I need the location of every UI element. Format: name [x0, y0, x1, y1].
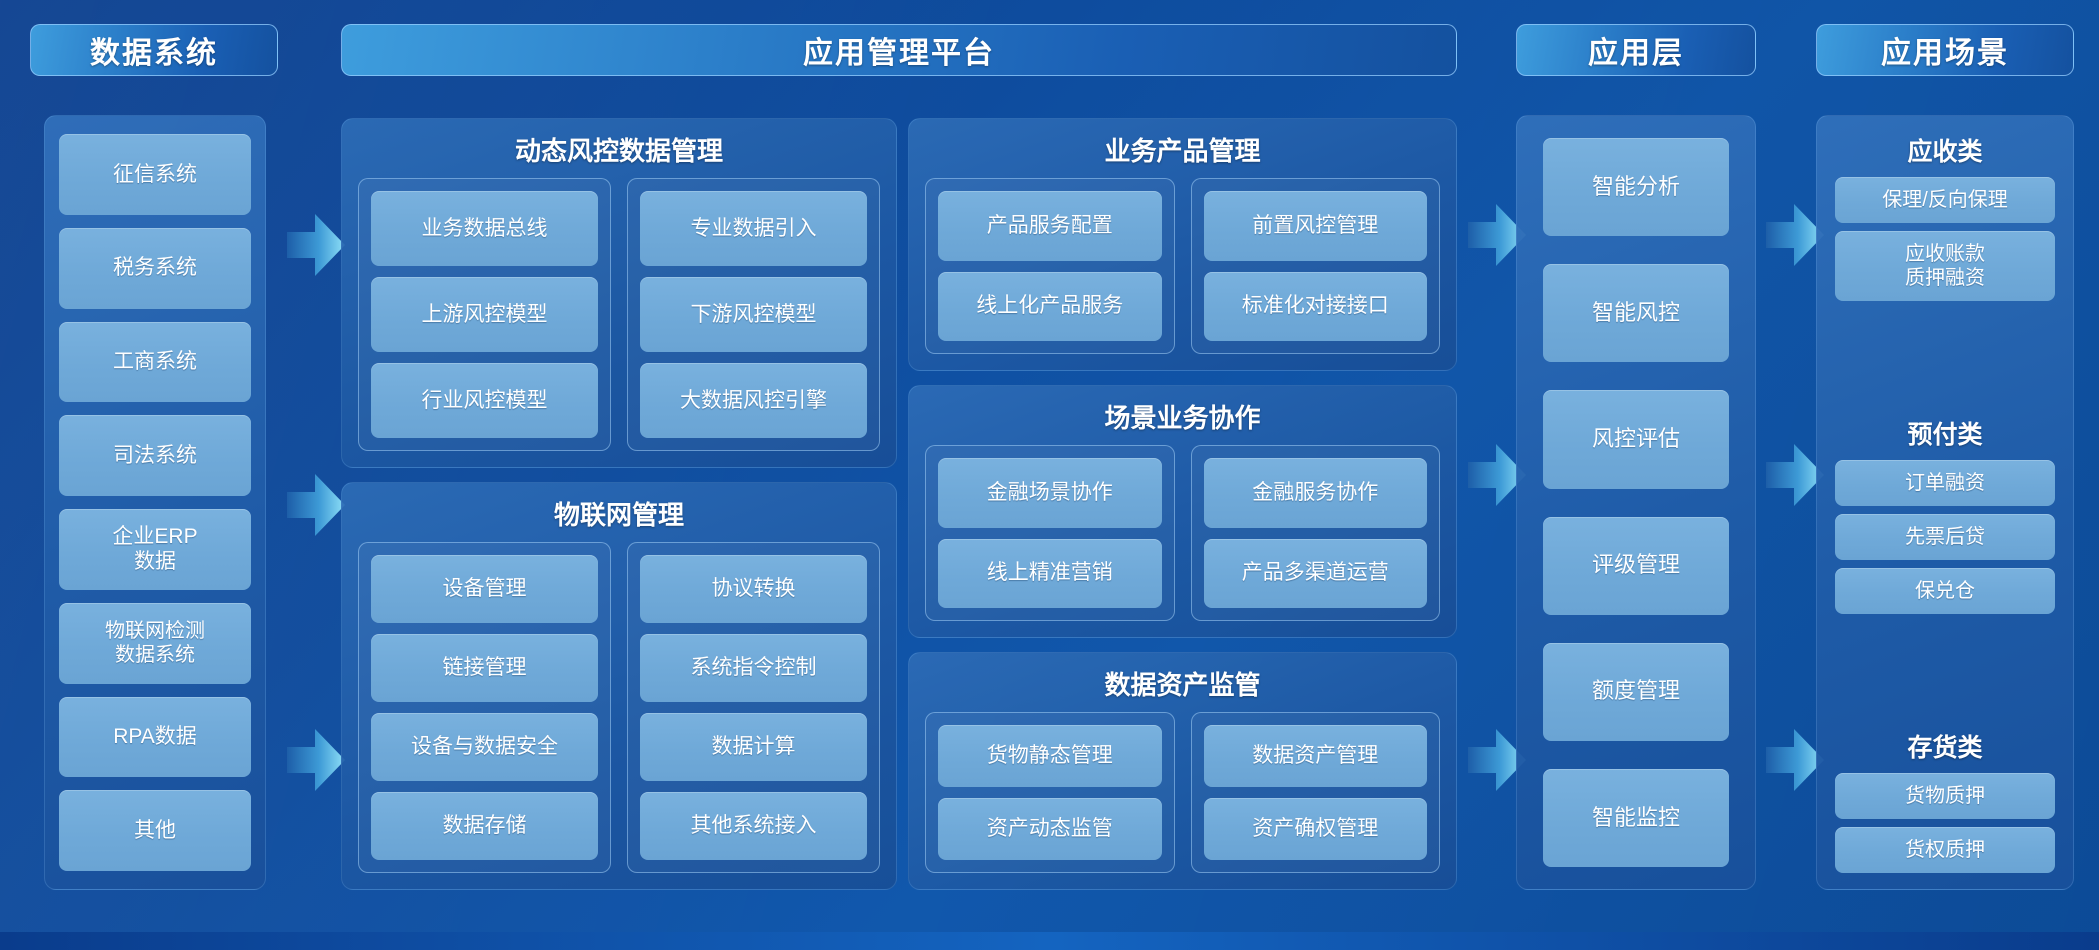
- group-title: 应收类: [1835, 132, 2055, 168]
- list-item[interactable]: 产品多渠道运营: [1204, 539, 1428, 609]
- list-item[interactable]: 订单融资: [1835, 460, 2055, 506]
- list-item[interactable]: 企业ERP 数据: [59, 509, 251, 590]
- list-item[interactable]: 前置风控管理: [1204, 191, 1428, 261]
- list-item[interactable]: 设备管理: [371, 555, 598, 623]
- group-right: 金融服务协作 产品多渠道运营: [1191, 445, 1441, 621]
- group-title: 存货类: [1835, 728, 2055, 764]
- list-item[interactable]: 数据存储: [371, 792, 598, 860]
- list-item[interactable]: 资产确权管理: [1204, 798, 1428, 860]
- section-title: 场景业务协作: [925, 398, 1440, 435]
- flow-arrow-icon: [287, 210, 347, 280]
- list-item[interactable]: 行业风控模型: [371, 363, 598, 438]
- section-title: 业务产品管理: [925, 131, 1440, 168]
- panel-application-scenarios: 应收类 保理/反向保理 应收账款 质押融资 预付类 订单融资 先票后贷 保兑仓 …: [1816, 115, 2074, 890]
- list-item[interactable]: 产品服务配置: [938, 191, 1162, 261]
- list-item[interactable]: 数据计算: [640, 713, 867, 781]
- list-item[interactable]: 先票后贷: [1835, 514, 2055, 560]
- list-item[interactable]: 资产动态监管: [938, 798, 1162, 860]
- scenario-group-prepayment: 预付类 订单融资 先票后贷 保兑仓: [1835, 413, 2055, 614]
- list-item[interactable]: 线上精准营销: [938, 539, 1162, 609]
- column-header-application-layer: 应用层: [1516, 24, 1756, 76]
- list-item[interactable]: 协议转换: [640, 555, 867, 623]
- list-item[interactable]: 风控评估: [1543, 390, 1729, 488]
- column-header-platform: 应用管理平台: [341, 24, 1457, 76]
- group-left: 产品服务配置 线上化产品服务: [925, 178, 1175, 354]
- list-item[interactable]: 应收账款 质押融资: [1835, 231, 2055, 301]
- section-dynamic-risk-data-management: 动态风控数据管理 业务数据总线 上游风控模型 行业风控模型 专业数据引入 下游风…: [341, 118, 897, 468]
- section-title: 动态风控数据管理: [358, 131, 880, 168]
- list-item[interactable]: 设备与数据安全: [371, 713, 598, 781]
- column-header-application-scenarios: 应用场景: [1816, 24, 2074, 76]
- bottom-accent-strip: [0, 932, 2099, 950]
- section-scenario-business-collaboration: 场景业务协作 金融场景协作 线上精准营销 金融服务协作 产品多渠道运营: [908, 385, 1457, 638]
- list-item[interactable]: 智能风控: [1543, 264, 1729, 362]
- panel-data-systems: 征信系统 税务系统 工商系统 司法系统 企业ERP 数据 物联网检测 数据系统 …: [44, 115, 266, 890]
- section-data-asset-supervision: 数据资产监管 货物静态管理 资产动态监管 数据资产管理 资产确权管理: [908, 652, 1457, 890]
- list-item[interactable]: 评级管理: [1543, 517, 1729, 615]
- section-business-product-management: 业务产品管理 产品服务配置 线上化产品服务 前置风控管理 标准化对接接口: [908, 118, 1457, 371]
- section-title: 数据资产监管: [925, 665, 1440, 702]
- group-right: 协议转换 系统指令控制 数据计算 其他系统接入: [627, 542, 880, 873]
- list-item[interactable]: 标准化对接接口: [1204, 272, 1428, 342]
- group-right: 专业数据引入 下游风控模型 大数据风控引擎: [627, 178, 880, 451]
- section-title: 物联网管理: [358, 495, 880, 532]
- panel-application-layer: 智能分析 智能风控 风控评估 评级管理 额度管理 智能监控: [1516, 115, 1756, 890]
- list-item[interactable]: 智能监控: [1543, 769, 1729, 867]
- list-item[interactable]: 货权质押: [1835, 827, 2055, 873]
- list-item[interactable]: 金融服务协作: [1204, 458, 1428, 528]
- list-item[interactable]: 工商系统: [59, 322, 251, 403]
- list-item[interactable]: 保兑仓: [1835, 568, 2055, 614]
- list-item[interactable]: RPA数据: [59, 697, 251, 778]
- scenario-group-inventory: 存货类 货物质押 货权质押: [1835, 726, 2055, 873]
- list-item[interactable]: 货物静态管理: [938, 725, 1162, 787]
- list-item[interactable]: 下游风控模型: [640, 277, 867, 352]
- list-item[interactable]: 智能分析: [1543, 138, 1729, 236]
- list-item[interactable]: 货物质押: [1835, 773, 2055, 819]
- list-item[interactable]: 金融场景协作: [938, 458, 1162, 528]
- group-right: 前置风控管理 标准化对接接口: [1191, 178, 1441, 354]
- list-item[interactable]: 其他系统接入: [640, 792, 867, 860]
- group-left: 设备管理 链接管理 设备与数据安全 数据存储: [358, 542, 611, 873]
- list-item[interactable]: 额度管理: [1543, 643, 1729, 741]
- list-item[interactable]: 线上化产品服务: [938, 272, 1162, 342]
- list-item[interactable]: 大数据风控引擎: [640, 363, 867, 438]
- group-left: 货物静态管理 资产动态监管: [925, 712, 1175, 873]
- list-item[interactable]: 征信系统: [59, 134, 251, 215]
- group-left: 金融场景协作 线上精准营销: [925, 445, 1175, 621]
- column-header-data-systems: 数据系统: [30, 24, 278, 76]
- list-item[interactable]: 物联网检测 数据系统: [59, 603, 251, 684]
- scenario-group-receivables: 应收类 保理/反向保理 应收账款 质押融资: [1835, 130, 2055, 301]
- flow-arrow-icon: [287, 470, 347, 540]
- list-item[interactable]: 专业数据引入: [640, 191, 867, 266]
- list-item[interactable]: 数据资产管理: [1204, 725, 1428, 787]
- architecture-diagram: 数据系统 征信系统 税务系统 工商系统 司法系统 企业ERP 数据 物联网检测 …: [0, 0, 2099, 950]
- list-item[interactable]: 上游风控模型: [371, 277, 598, 352]
- list-item[interactable]: 业务数据总线: [371, 191, 598, 266]
- section-iot-management: 物联网管理 设备管理 链接管理 设备与数据安全 数据存储 协议转换 系统指令控制…: [341, 482, 897, 890]
- list-item[interactable]: 链接管理: [371, 634, 598, 702]
- group-right: 数据资产管理 资产确权管理: [1191, 712, 1441, 873]
- list-item[interactable]: 其他: [59, 790, 251, 871]
- list-item[interactable]: 保理/反向保理: [1835, 177, 2055, 223]
- list-item[interactable]: 司法系统: [59, 415, 251, 496]
- group-title: 预付类: [1835, 415, 2055, 451]
- list-item[interactable]: 系统指令控制: [640, 634, 867, 702]
- list-item[interactable]: 税务系统: [59, 228, 251, 309]
- group-left: 业务数据总线 上游风控模型 行业风控模型: [358, 178, 611, 451]
- flow-arrow-icon: [287, 725, 347, 795]
